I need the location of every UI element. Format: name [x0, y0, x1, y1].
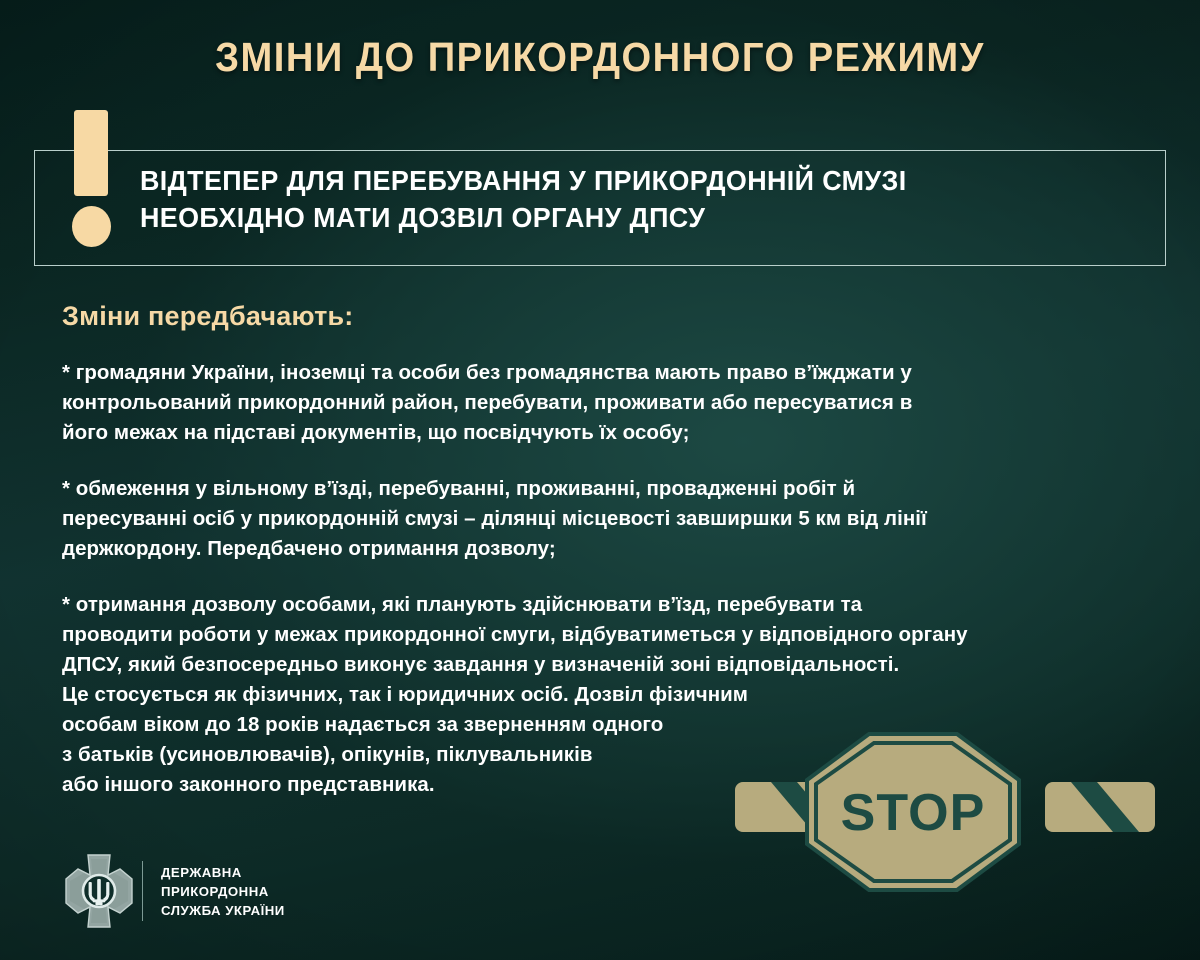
callout-text: ВІДТЕПЕР ДЛЯ ПЕРЕБУВАННЯ У ПРИКОРДОННІЙ …	[140, 162, 1090, 236]
logo-divider	[142, 861, 143, 921]
paragraph-3-line-4: Це стосується як фізичних, так і юридичн…	[62, 680, 1152, 710]
paragraph-2-line-1: * обмеження у вільному в’їзді, перебуван…	[62, 474, 1152, 504]
paragraph-3-line-7: або іншого законного представника.	[62, 770, 1152, 800]
exclamation-mark-icon	[72, 110, 112, 246]
page-title: ЗМІНИ ДО ПРИКОРДОННОГО РЕЖИМУ	[42, 36, 1158, 79]
callout-line-1: ВІДТЕПЕР ДЛЯ ПЕРЕБУВАННЯ У ПРИКОРДОННІЙ …	[140, 162, 1090, 199]
paragraph-3-line-1: * отримання дозволу особами, які плануют…	[62, 590, 1152, 620]
paragraph-3-line-6: з батьків (усиновлювачів), опікунів, пік…	[62, 740, 1152, 770]
paragraph-1-line-2: контрольований прикордонний район, переб…	[62, 388, 1152, 418]
paragraph-3-line-3: ДПСУ, який безпосередньо виконує завданн…	[62, 650, 1152, 680]
paragraph-3-line-2: проводити роботи у межах прикордонної см…	[62, 620, 1152, 650]
footer-logo: ДЕРЖАВНА ПРИКОРДОННА СЛУЖБА УКРАЇНИ	[62, 848, 285, 934]
paragraph-2-line-3: держкордону. Передбачено отримання дозво…	[62, 534, 1152, 564]
paragraph-1-line-1: * громадяни України, іноземці та особи б…	[62, 358, 1152, 388]
org-line-3: СЛУЖБА УКРАЇНИ	[161, 901, 285, 920]
paragraph-3: * отримання дозволу особами, які плануют…	[62, 590, 1152, 800]
paragraph-2: * обмеження у вільному в’їзді, перебуван…	[62, 474, 1152, 564]
callout-line-2: НЕОБХІДНО МАТИ ДОЗВІЛ ОРГАНУ ДПСУ	[140, 199, 1090, 236]
exclamation-dot	[72, 206, 111, 247]
paragraph-1-line-3: його межах на підставі документів, що по…	[62, 418, 1152, 448]
poster-canvas: ЗМІНИ ДО ПРИКОРДОННОГО РЕЖИМУ ВІДТЕПЕР Д…	[0, 0, 1200, 960]
body-text: * громадяни України, іноземці та особи б…	[62, 358, 1152, 800]
paragraph-1: * громадяни України, іноземці та особи б…	[62, 358, 1152, 448]
org-line-1: ДЕРЖАВНА	[161, 863, 285, 882]
exclamation-bar	[74, 110, 108, 196]
body-subheading: Зміни передбачають:	[62, 301, 353, 332]
paragraph-2-line-2: пересуванні осіб у прикордонній смузі – …	[62, 504, 1152, 534]
paragraph-3-line-5: особам віком до 18 років надається за зв…	[62, 710, 1152, 740]
org-line-2: ПРИКОРДОННА	[161, 882, 285, 901]
border-guard-cross-emblem-icon	[62, 851, 136, 931]
organization-name: ДЕРЖАВНА ПРИКОРДОННА СЛУЖБА УКРАЇНИ	[161, 863, 285, 920]
